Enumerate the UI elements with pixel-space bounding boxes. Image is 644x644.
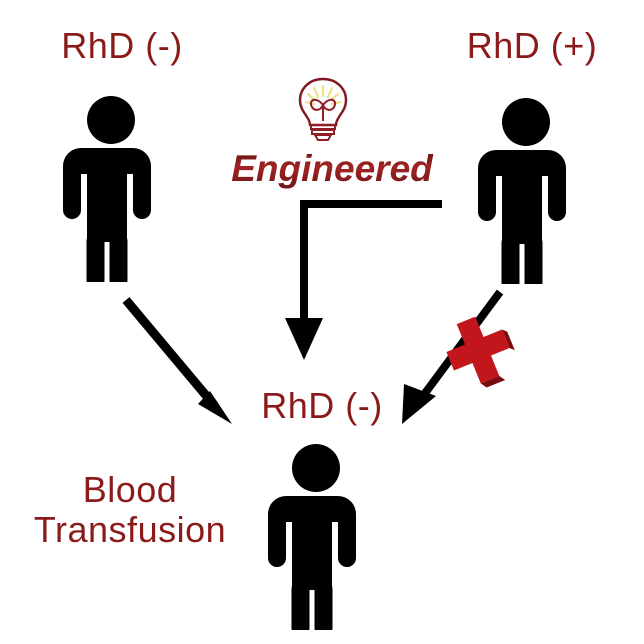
- arrow-engineered-to-recipient: [285, 204, 442, 360]
- arrow-negative-donor-to-recipient: [126, 300, 232, 424]
- arrows-layer: [0, 0, 644, 644]
- diagram-canvas: RhD (-) RhD (+) RhD (-) Blood Transfusio…: [0, 0, 644, 644]
